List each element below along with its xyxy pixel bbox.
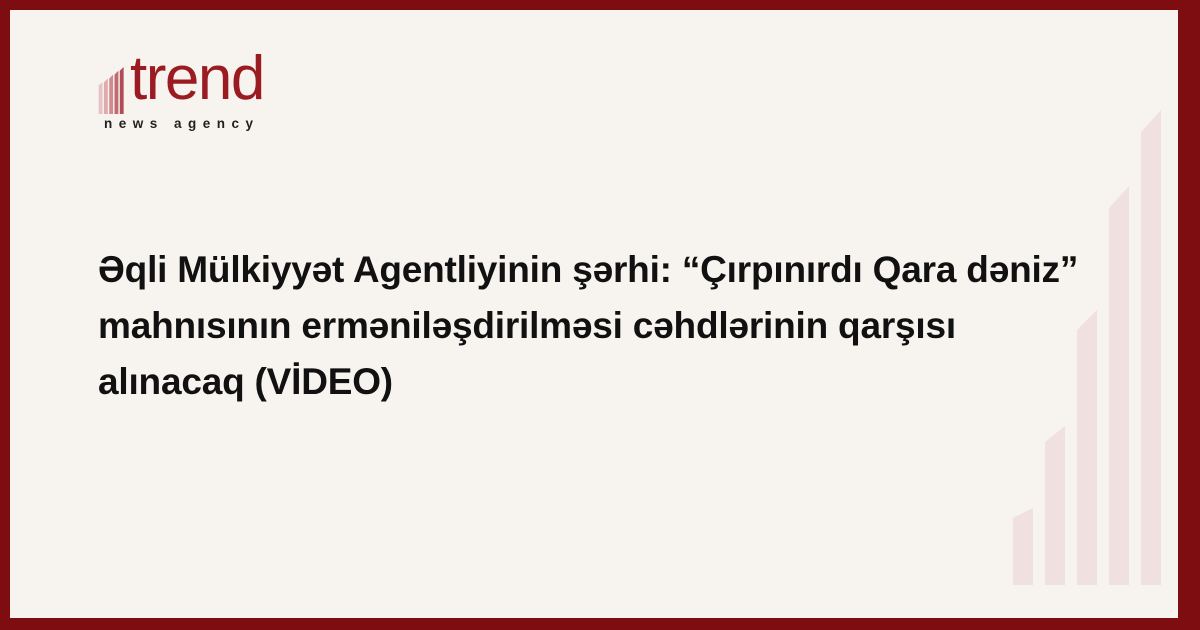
logo-mark: trend xyxy=(98,48,328,114)
logo-wordmark: trend xyxy=(130,46,264,112)
logo-tagline: news agency xyxy=(104,116,328,131)
brand-logo: trend news agency xyxy=(98,48,328,131)
page-title: Əqli Mülkiyyət Agentliyinin şərhi: “Çırp… xyxy=(98,242,1098,410)
ascending-bars-icon xyxy=(98,66,132,114)
share-card: trend news agency Əqli Mülkiyyət Agentli… xyxy=(0,0,1200,630)
card-canvas: trend news agency Əqli Mülkiyyət Agentli… xyxy=(10,10,1178,618)
